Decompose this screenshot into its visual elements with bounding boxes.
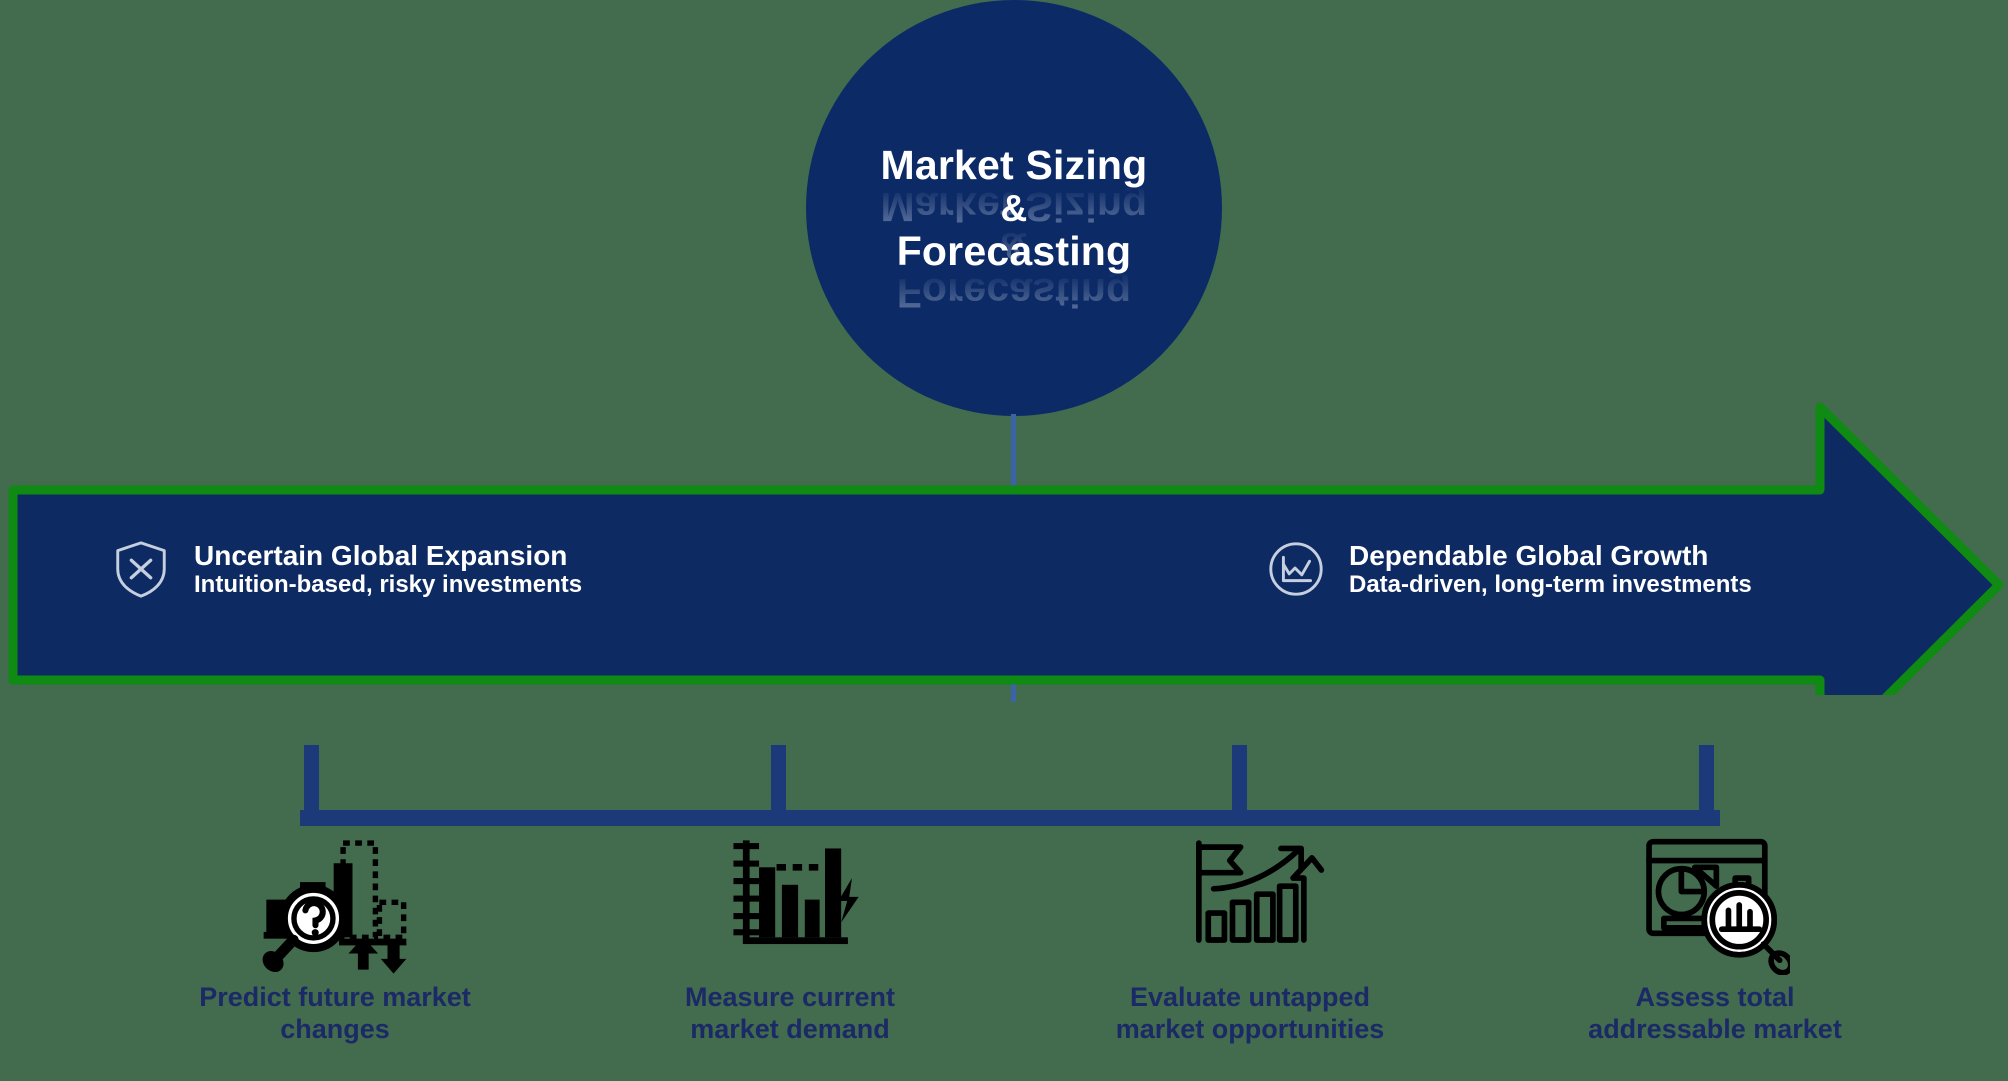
arrow-left-title: Uncertain Global Expansion [194, 540, 582, 571]
step-item-1: Predict future market changes [165, 835, 505, 1046]
steps-row: Predict future market changes [0, 835, 2008, 1065]
arrow-right-state: Dependable Global Growth Data-driven, lo… [1265, 538, 1752, 600]
hub-title-line-3: Forecasting Forecasting [881, 231, 1148, 272]
arrow-left-subtitle: Intuition-based, risky investments [194, 571, 582, 599]
hub-title-line-1: Market Sizing Market Sizing [881, 145, 1148, 186]
hub-title-line-1-text: Market Sizing [881, 142, 1148, 188]
step-label-3: Evaluate untapped market opportunities [1116, 981, 1385, 1046]
growth-bars-flag-arrow-icon [1175, 835, 1325, 975]
arrow-right-title: Dependable Global Growth [1349, 540, 1752, 571]
arrow-right-subtitle: Data-driven, long-term investments [1349, 571, 1752, 599]
arrow-right-text: Dependable Global Growth Data-driven, lo… [1349, 540, 1752, 599]
hub-title: Market Sizing Market Sizing & & Forecast… [881, 141, 1148, 276]
step-label-2: Measure current market demand [685, 981, 895, 1046]
hub-title-line-3-reflection: Forecasting [881, 272, 1148, 313]
step-item-2: Measure current market demand [620, 835, 960, 1046]
bar-chart-magnifier-question-icon [260, 835, 410, 975]
step-label-1: Predict future market changes [199, 981, 471, 1046]
step-bracket [300, 740, 1720, 830]
hub-title-line-3-text: Forecasting [897, 228, 1132, 274]
hub-title-line-2: & & [881, 190, 1148, 227]
arrow-left-state: Uncertain Global Expansion Intuition-bas… [110, 538, 582, 600]
step-item-3: Evaluate untapped market opportunities [1080, 835, 1420, 1046]
dashboard-magnifier-icon [1640, 835, 1790, 975]
bar-chart-axis-bolt-icon [715, 835, 865, 975]
bracket-tick-4 [1699, 745, 1714, 823]
bracket-tick-2 [771, 745, 786, 823]
line-chart-circle-icon [1265, 538, 1327, 600]
hub-circle: Market Sizing Market Sizing & & Forecast… [806, 0, 1222, 416]
shield-x-icon [110, 538, 172, 600]
bracket-tick-3 [1232, 745, 1247, 823]
hub-title-line-2-text: & [1001, 188, 1028, 229]
step-label-4: Assess total addressable market [1588, 981, 1842, 1046]
bracket-tick-1 [304, 745, 319, 823]
infographic-canvas: Market Sizing Market Sizing & & Forecast… [0, 0, 2008, 1081]
step-item-4: Assess total addressable market [1545, 835, 1885, 1046]
arrow-left-text: Uncertain Global Expansion Intuition-bas… [194, 540, 582, 599]
